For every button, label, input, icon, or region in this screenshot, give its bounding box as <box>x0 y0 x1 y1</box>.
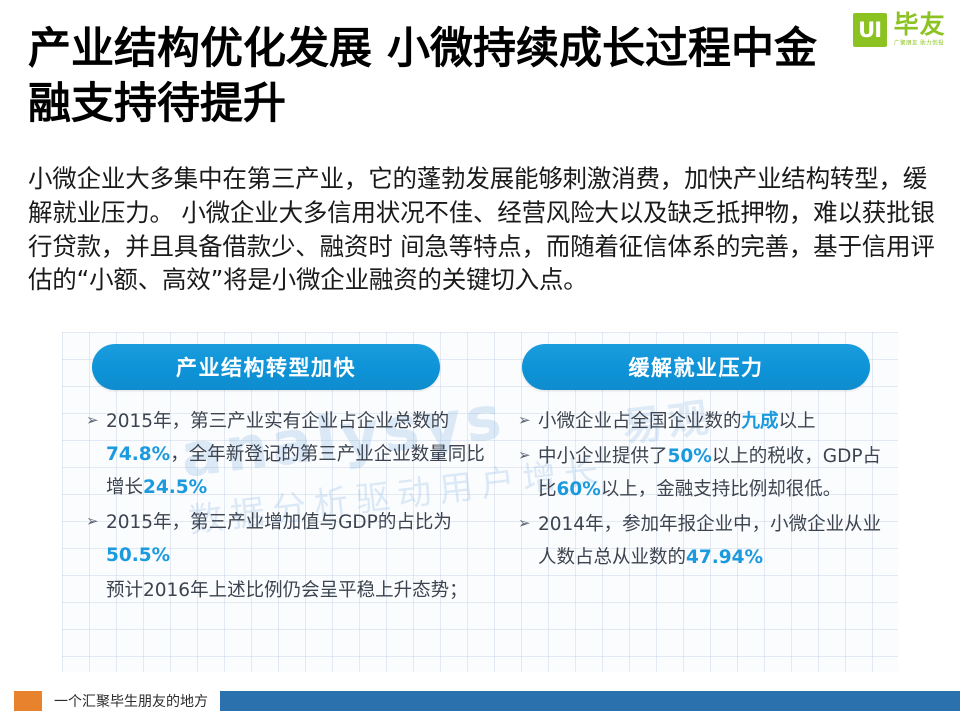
bullet-highlight-value: 74.8% <box>106 444 170 465</box>
column-left-header: 产业结构转型加快 <box>92 344 440 390</box>
logo-mark-icon: UI <box>853 13 887 47</box>
brand-logo: UI 毕友 广聚朋友 助力创投 <box>853 8 948 52</box>
column-left-bullets: ➢2015年，第三产业实有企业占企业总数的74.8%，全年新登记的第三产业企业数… <box>86 406 498 608</box>
bullet-item: ➢2015年，第三产业实有企业占企业总数的74.8%，全年新登记的第三产业企业数… <box>86 406 498 505</box>
bullet-highlight-value: 50% <box>668 446 712 467</box>
logo-tagline: 广聚朋友 助力创投 <box>894 40 944 47</box>
bullet-text: 以上，金融支持比例却很低。 <box>601 479 842 500</box>
panel-columns: 产业结构转型加快 ➢2015年，第三产业实有企业占企业总数的74.8%，全年新登… <box>62 332 898 672</box>
panel-column-right: 缓解就业压力 ➢小微企业占全国企业数的九成以上➢中小企业提供了50%以上的税收，… <box>508 332 898 672</box>
bullet-highlight-value: 24.5% <box>143 477 207 498</box>
bullet-text: 中小企业提供了 <box>538 446 668 467</box>
bullet-highlight-value: 九成 <box>742 411 779 432</box>
footer-text: 一个汇聚毕生朋友的地方 <box>54 691 208 711</box>
column-right-bullets: ➢小微企业占全国企业数的九成以上➢中小企业提供了50%以上的税收，GDP占比60… <box>518 406 882 575</box>
logo-wordmark: 毕友 广聚朋友 助力创投 <box>894 12 948 47</box>
intro-paragraph: 小微企业大多集中在第三产业，它的蓬勃发展能够刺激消费，加快产业结构转型，缓解就业… <box>28 162 936 297</box>
bullet-highlight-value: 50.5% <box>106 545 170 566</box>
bullet-text: 小微企业占全国企业数的 <box>538 411 742 432</box>
panel-column-left: 产业结构转型加快 ➢2015年，第三产业实有企业占企业总数的74.8%，全年新登… <box>62 332 508 672</box>
bullet-item: ➢2014年，参加年报企业中，小微企业从业人数占总从业数的47.94% <box>518 509 882 575</box>
bullet-arrow-icon: ➢ <box>518 406 531 435</box>
bullet-item: ➢中小企业提供了50%以上的税收，GDP占比60%以上，金融支持比例却很低。 <box>518 441 882 507</box>
footer: 一个汇聚毕生朋友的地方 <box>0 690 960 712</box>
bullet-arrow-icon: ➢ <box>518 509 531 538</box>
bullet-highlight-value: 47.94% <box>686 547 763 568</box>
logo-name: 毕友 <box>894 12 948 37</box>
page-title: 产业结构优化发展 小微持续成长过程中金融支持待提升 <box>28 22 818 132</box>
bullet-text: 2015年，第三产业增加值与GDP的占比为 <box>106 512 452 533</box>
bullet-arrow-icon: ➢ <box>518 441 531 470</box>
column-right-header: 缓解就业压力 <box>522 344 870 390</box>
info-panel: analysys 数据分析驱动用户增长 易观 产业结构转型加快 ➢2015年，第… <box>62 332 898 672</box>
bullet-text: 预计2016年上述比例仍会呈平稳上升态势； <box>106 580 468 601</box>
bullet-item: 预计2016年上述比例仍会呈平稳上升态势； <box>86 575 498 608</box>
footer-accent-square <box>14 691 42 711</box>
bullet-item: ➢小微企业占全国企业数的九成以上 <box>518 406 882 439</box>
bullet-text: 2015年，第三产业实有企业占企业总数的 <box>106 411 449 432</box>
footer-bar <box>220 691 960 711</box>
bullet-arrow-icon: ➢ <box>86 406 99 435</box>
logo-mark-text: UI <box>858 20 881 41</box>
bullet-highlight-value: 60% <box>557 479 601 500</box>
bullet-arrow-icon: ➢ <box>86 507 99 536</box>
bullet-text: 以上 <box>779 411 816 432</box>
bullet-item: ➢2015年，第三产业增加值与GDP的占比为50.5% <box>86 507 498 573</box>
